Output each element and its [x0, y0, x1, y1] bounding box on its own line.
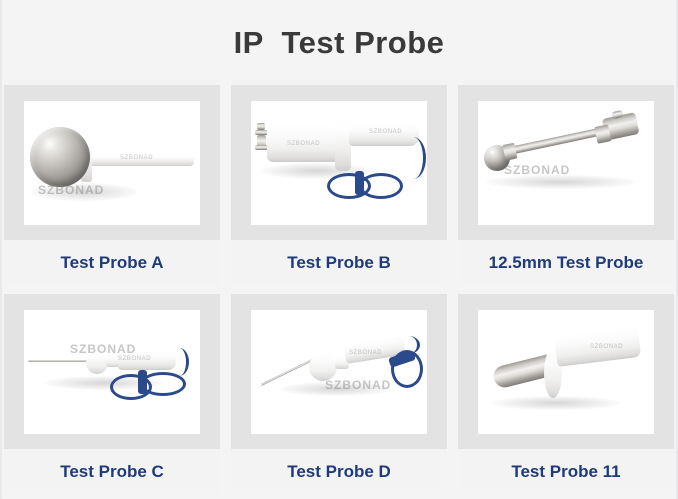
- probe-c-illustration: SZBONAD SZBONAD: [24, 310, 200, 434]
- page-root: IP Test Probe SZBONAD SZBONAD: [0, 0, 678, 499]
- card-caption: Test Probe 11: [458, 449, 674, 495]
- product-label-test-probe-c: Test Probe C: [60, 462, 164, 482]
- product-image-test-probe-11[interactable]: SZBONAD: [478, 310, 654, 434]
- card-media: SZBONAD SZBONAD: [4, 85, 220, 240]
- product-card-12-5mm-test-probe[interactable]: SZBONAD 12.5mm Test Probe: [458, 85, 674, 286]
- product-card-test-probe-b[interactable]: SZBONAD SZBONAD Test Probe B: [231, 85, 447, 286]
- product-label-test-probe-a: Test Probe A: [61, 253, 164, 273]
- page-header: IP Test Probe: [2, 0, 676, 85]
- product-image-test-probe-a[interactable]: SZBONAD SZBONAD: [24, 101, 200, 225]
- product-grid: SZBONAD SZBONAD Test Probe A: [2, 85, 676, 499]
- card-caption: Test Probe B: [231, 240, 447, 286]
- card-caption: Test Probe C: [4, 449, 220, 495]
- product-label-test-probe-b: Test Probe B: [287, 253, 391, 273]
- product-image-12-5mm-test-probe[interactable]: SZBONAD: [478, 101, 654, 225]
- product-label-test-probe-d: Test Probe D: [287, 462, 391, 482]
- card-media: SZBONAD SZBONAD: [231, 85, 447, 240]
- probe-11-illustration: SZBONAD: [478, 310, 654, 434]
- product-card-test-probe-c[interactable]: SZBONAD SZBONAD Test Probe C: [4, 294, 220, 495]
- card-media: SZBONAD: [458, 294, 674, 449]
- product-card-test-probe-d[interactable]: SZBONAD SZBONAD Test Probe D: [231, 294, 447, 495]
- card-media: SZBONAD: [458, 85, 674, 240]
- probe-12-5mm-illustration: SZBONAD: [478, 101, 654, 225]
- product-label-test-probe-11: Test Probe 11: [511, 462, 620, 482]
- product-card-test-probe-11[interactable]: SZBONAD Test Probe 11: [458, 294, 674, 495]
- probe-d-illustration: SZBONAD SZBONAD: [251, 310, 427, 434]
- card-caption: Test Probe D: [231, 449, 447, 495]
- image-watermark: SZBONAD: [325, 378, 391, 392]
- card-media: SZBONAD SZBONAD: [4, 294, 220, 449]
- probe-b-illustration: SZBONAD SZBONAD: [251, 101, 427, 225]
- product-image-test-probe-d[interactable]: SZBONAD SZBONAD: [251, 310, 427, 434]
- card-media: SZBONAD SZBONAD: [231, 294, 447, 449]
- card-caption: Test Probe A: [4, 240, 220, 286]
- product-image-test-probe-b[interactable]: SZBONAD SZBONAD: [251, 101, 427, 225]
- product-card-test-probe-a[interactable]: SZBONAD SZBONAD Test Probe A: [4, 85, 220, 286]
- card-caption: 12.5mm Test Probe: [458, 240, 674, 286]
- product-image-test-probe-c[interactable]: SZBONAD SZBONAD: [24, 310, 200, 434]
- product-label-12-5mm-test-probe: 12.5mm Test Probe: [489, 253, 644, 273]
- page-title: IP Test Probe: [234, 25, 445, 61]
- image-watermark: SZBONAD: [504, 163, 570, 177]
- probe-a-illustration: SZBONAD SZBONAD: [24, 101, 200, 225]
